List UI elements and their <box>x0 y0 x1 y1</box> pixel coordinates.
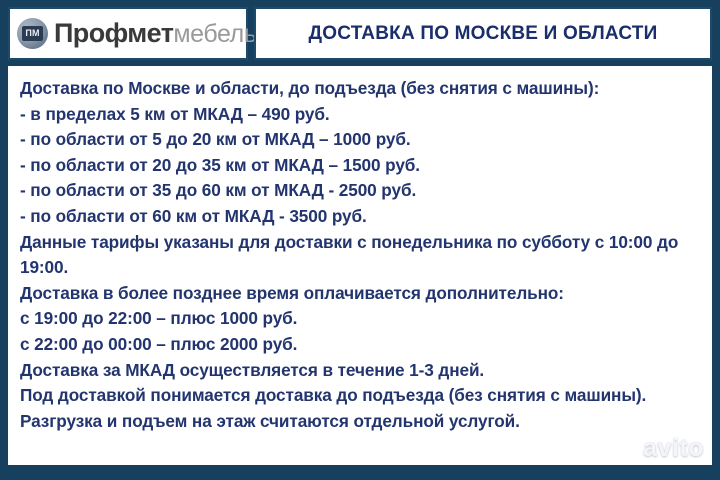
brand-logo-box: ПМ Профметмебель <box>8 7 248 60</box>
avito-watermark: avito <box>643 434 704 463</box>
terms-line: с 19:00 до 22:00 – плюс 1000 руб. <box>20 306 700 332</box>
delivery-terms-panel: Доставка по Москве и области, до подъезд… <box>8 66 712 465</box>
logo-circle-icon: ПМ <box>17 18 48 49</box>
brand-name-secondary: мебель <box>173 22 256 47</box>
terms-line: - по области от 5 до 20 км от МКАД – 100… <box>20 127 700 153</box>
delivery-info-card: ПМ Профметмебель ДОСТАВКА ПО МОСКВЕ И ОБ… <box>0 0 720 480</box>
brand-wordmark: Профметмебель <box>54 20 256 47</box>
terms-line: - по области от 60 км от МКАД - 3500 руб… <box>20 204 700 230</box>
terms-line: Данные тарифы указаны для доставки с пон… <box>20 230 700 281</box>
terms-line: - по области от 35 до 60 км от МКАД - 25… <box>20 178 700 204</box>
logo-badge-label: ПМ <box>22 26 43 41</box>
terms-line: - в пределах 5 км от МКАД – 490 руб. <box>20 102 700 128</box>
terms-line: Доставка по Москве и области, до подъезд… <box>20 76 700 102</box>
card-header: ПМ Профметмебель ДОСТАВКА ПО МОСКВЕ И ОБ… <box>8 7 712 60</box>
header-title-box: ДОСТАВКА ПО МОСКВЕ И ОБЛАСТИ <box>254 7 712 60</box>
terms-line: Доставка в более позднее время оплачивае… <box>20 281 700 307</box>
brand-name-primary: Профмет <box>54 20 173 47</box>
terms-line: - по области от 20 до 35 км от МКАД – 15… <box>20 153 700 179</box>
terms-line: с 22:00 до 00:00 – плюс 2000 руб. <box>20 332 700 358</box>
page-title: ДОСТАВКА ПО МОСКВЕ И ОБЛАСТИ <box>309 23 658 45</box>
terms-line: Под доставкой понимается доставка до под… <box>20 383 700 434</box>
terms-line: Доставка за МКАД осуществляется в течени… <box>20 358 700 384</box>
